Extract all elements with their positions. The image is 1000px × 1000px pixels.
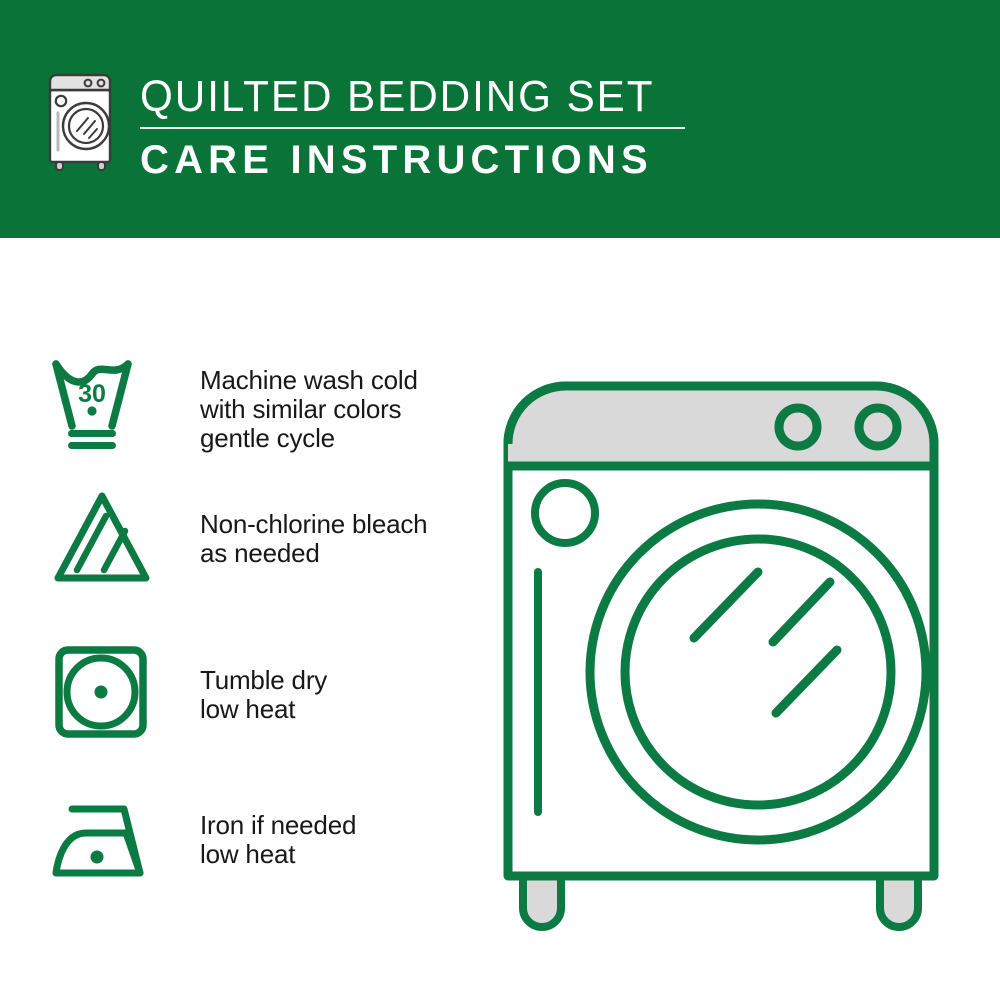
care-symbol-list: 30 Machine wash cold with similar colors… xyxy=(0,238,480,1000)
wash-basin-30-icon: 30 xyxy=(50,348,160,458)
washing-machine-icon xyxy=(44,68,120,172)
care-row-tumble-dry: Tumble dry low heat xyxy=(0,638,480,758)
care-row-wash: 30 Machine wash cold with similar colors… xyxy=(0,348,480,468)
tumble-dry-low-icon xyxy=(50,638,160,748)
page-title: QUILTED BEDDING SET xyxy=(140,72,735,122)
header-banner: QUILTED BEDDING SET CARE INSTRUCTIONS xyxy=(0,0,1000,238)
care-instructions-infographic: QUILTED BEDDING SET CARE INSTRUCTIONS xyxy=(0,0,1000,1000)
care-row-iron: Iron if needed low heat xyxy=(0,783,480,903)
page-subtitle: CARE INSTRUCTIONS xyxy=(140,137,760,183)
iron-low-heat-icon xyxy=(50,791,160,901)
title-divider xyxy=(140,127,685,129)
care-text-bleach: Non-chlorine bleach as needed xyxy=(200,510,427,568)
care-text-wash: Machine wash cold with similar colors ge… xyxy=(200,366,418,453)
header-title-block: QUILTED BEDDING SET CARE INSTRUCTIONS xyxy=(140,72,760,183)
control-panel xyxy=(508,386,934,466)
care-row-bleach: Non-chlorine bleach as needed xyxy=(0,486,480,596)
care-text-tumble-dry: Tumble dry low heat xyxy=(200,666,327,724)
wash-temperature-label: 30 xyxy=(78,380,106,408)
front-load-washing-machine-illustration xyxy=(480,320,1000,950)
care-text-iron: Iron if needed low heat xyxy=(200,811,356,869)
bleach-triangle-icon xyxy=(50,486,160,596)
